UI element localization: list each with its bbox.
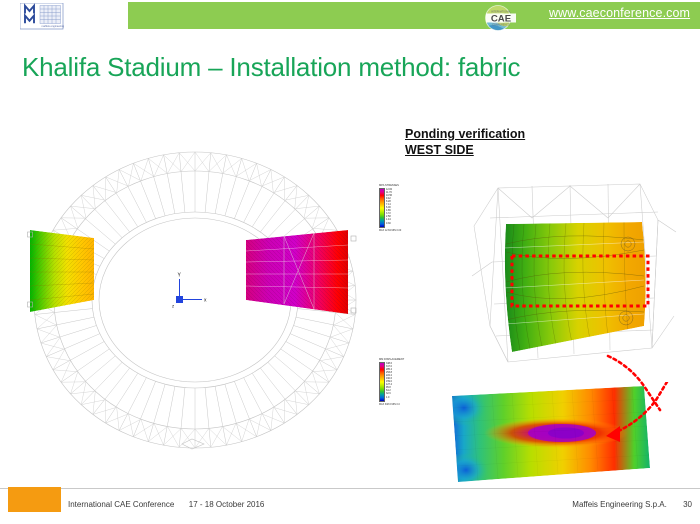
- legend-tick-labels: 348.6 317.0 285.4 253.8 222.2 190.6 159.…: [386, 362, 392, 402]
- slide-page-number: 30: [683, 500, 692, 509]
- footer-divider: [0, 488, 700, 489]
- legend-tick: 1.0: [386, 396, 392, 399]
- cae-conference-globe-icon: CAE INTERNATIONAL CONFERENCE: [474, 0, 530, 34]
- color-legend-displacement: MM DISPLACEMENT 348.6 317.0 285.4 253.8 …: [379, 358, 425, 406]
- svg-text:z: z: [172, 304, 174, 309]
- footer-conference-name: International CAE Conference: [68, 500, 174, 509]
- stadium-roof-plan-fea: Y x z: [22, 148, 372, 478]
- color-legend-stresses: MPA STRESSES 12.84 11.70 10.56 9.42 8.28…: [379, 184, 425, 232]
- cae-conference-url-link[interactable]: www.caeconference.com: [549, 6, 690, 20]
- legend-color-bar: [379, 362, 385, 402]
- footer-company-info: Maffeis Engineering S.p.A. 30: [572, 500, 692, 509]
- legend-color-bar: [379, 188, 385, 228]
- fabric-panel-west: [22, 218, 112, 328]
- legend-footer: MAX 12.84 MIN 0.00: [379, 229, 425, 232]
- svg-text:Y: Y: [178, 273, 182, 279]
- legend-footer: MAX 348.6 MIN 0.0: [379, 403, 425, 406]
- cae-badge-bottom-label: CONFERENCE: [492, 24, 510, 27]
- footer-dates: 17 - 18 October 2016: [189, 500, 265, 509]
- axis-triad-icon: Y x z: [172, 273, 207, 309]
- legend-tick-labels: 12.84 11.70 10.56 9.42 8.28 7.14 6.00 4.…: [386, 188, 392, 228]
- slide-header: maffeis engineering CAE INTERNATIONAL CO…: [0, 0, 700, 31]
- legend-tick: 0.30: [386, 222, 392, 225]
- footer-orange-swatch: [8, 487, 61, 512]
- svg-text:x: x: [204, 298, 207, 304]
- svg-text:maffeis engineering: maffeis engineering: [42, 24, 65, 28]
- section-heading-line2: WEST SIDE: [405, 142, 605, 158]
- slide-title: Khalifa Stadium – Installation method: f…: [22, 52, 520, 83]
- section-heading-line1: Ponding verification: [405, 126, 605, 142]
- legend-title: MPA STRESSES: [379, 184, 425, 187]
- west-contour-surface: [504, 222, 646, 352]
- maffeis-m-grid-logo-icon: maffeis engineering: [20, 3, 64, 30]
- cae-badge-top-label: INTERNATIONAL: [491, 11, 511, 14]
- footer-company-name: Maffeis Engineering S.p.A.: [572, 500, 667, 509]
- legend-title: MM DISPLACEMENT: [379, 358, 425, 361]
- detail-connector-upper-tail: [600, 352, 696, 412]
- footer-conference-info: International CAE Conference 17 - 18 Oct…: [68, 500, 264, 509]
- section-heading: Ponding verification WEST SIDE: [405, 126, 605, 158]
